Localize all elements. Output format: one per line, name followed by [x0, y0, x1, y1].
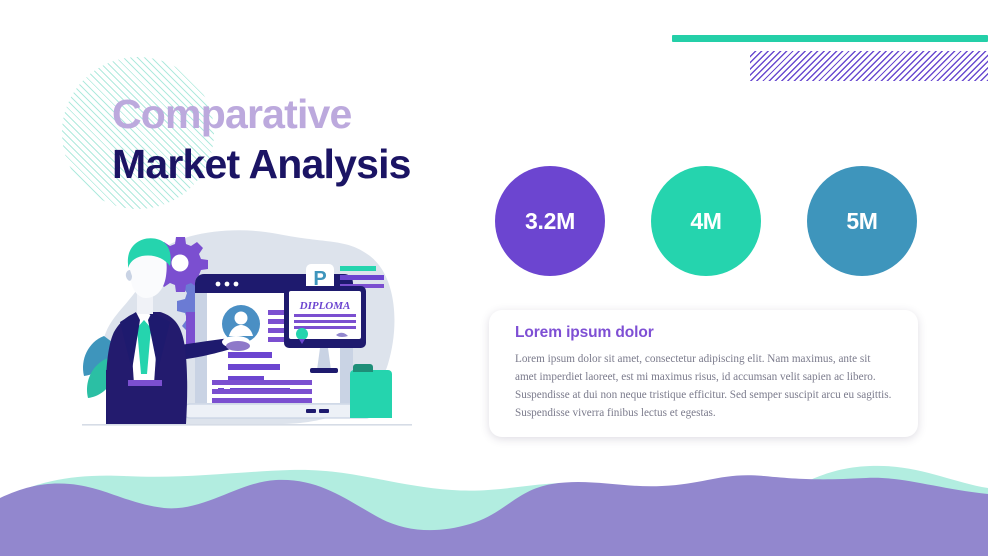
stat-circle-1[interactable]: 3.2M — [495, 166, 605, 276]
stat-circle-2-value: 4M — [690, 208, 721, 235]
content-lines-paragraph — [212, 380, 312, 403]
hatched-block-decoration — [750, 51, 988, 81]
stat-circle-2[interactable]: 4M — [651, 166, 761, 276]
stat-circle-3-value: 5M — [846, 208, 877, 235]
title-line-1: Comparative — [112, 92, 532, 136]
stat-circle-group: 3.2M 4M 5M — [495, 166, 925, 278]
slide-title: Comparative Market Analysis — [112, 92, 532, 187]
diploma-label: DIPLOMA — [299, 300, 351, 312]
slide-canvas: Comparative Market Analysis 3.2M 4M 5M L… — [0, 0, 988, 556]
title-line-2: Market Analysis — [112, 142, 532, 186]
bottom-wave-decoration — [0, 446, 988, 556]
stat-circle-3[interactable]: 5M — [807, 166, 917, 276]
ground-line — [82, 424, 412, 426]
info-card-body: Lorem ipsum dolor sit amet, consectetur … — [515, 350, 892, 423]
laptop-base — [183, 404, 373, 418]
info-card: Lorem ipsum dolor Lorem ipsum dolor sit … — [489, 310, 918, 437]
business-illustration: P DIPLOMA — [78, 228, 430, 446]
teal-bar-decoration — [672, 35, 988, 42]
stat-circle-1-value: 3.2M — [525, 208, 575, 235]
info-card-heading: Lorem ipsum dolor — [515, 324, 892, 342]
teal-folder — [350, 364, 392, 418]
